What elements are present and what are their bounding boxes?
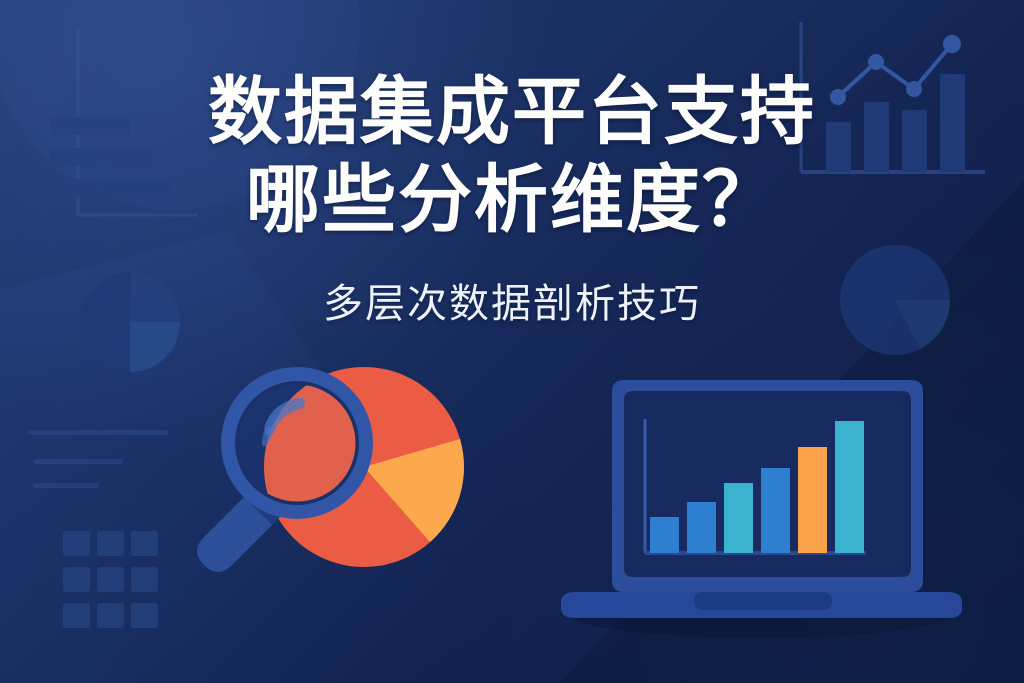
deco-text-line-2 — [33, 459, 123, 464]
magnifier-illustration — [197, 367, 464, 572]
decoration-grid-squares — [63, 531, 158, 628]
deco-text-line-3 — [33, 483, 99, 488]
magnifier-ring — [228, 374, 366, 512]
magnifier-lens — [235, 381, 359, 505]
poster-canvas: 数据集成平台支持 哪些分析维度？ 多层次数据剖析技巧 — [0, 0, 1024, 683]
pie-highlight-slice — [364, 439, 464, 542]
laptop-base — [561, 592, 962, 618]
laptop-screen-shell — [612, 380, 923, 592]
laptop-screen-bezel — [624, 391, 911, 577]
laptop-bar-4 — [761, 468, 790, 553]
background-wedge-bottom-right — [560, 180, 1024, 683]
laptop-bar-5 — [798, 447, 827, 553]
laptop-screen-display — [632, 399, 903, 568]
headline-line-1: 数据集成平台支持 — [0, 68, 1024, 156]
magnifier-handle — [197, 486, 283, 572]
laptop-illustration — [561, 380, 962, 638]
subtitle: 多层次数据剖析技巧 — [0, 278, 1024, 330]
pie-base-slice — [264, 367, 464, 567]
headline-block: 数据集成平台支持 哪些分析维度？ — [0, 68, 1024, 244]
magnifier-glass-shine-small — [262, 426, 273, 446]
decoration-text-lines-bottom-left — [28, 430, 168, 488]
foreground-pie-chart — [264, 367, 464, 567]
laptop-bar-2 — [687, 502, 716, 553]
magnifier-glass-shine — [264, 398, 305, 436]
magnifier-handle-shadow — [244, 486, 283, 525]
laptop-bar-3 — [724, 483, 753, 553]
headline-line-2: 哪些分析维度？ — [0, 156, 1024, 244]
laptop-shadow — [565, 586, 955, 638]
deco-text-line-1 — [28, 430, 168, 435]
magnifier-lens-inner-rim — [235, 381, 359, 505]
laptop-bar-6 — [835, 421, 864, 553]
deco-trend-dot — [943, 35, 961, 53]
laptop-bar-1 — [650, 517, 679, 553]
laptop-base-notch — [694, 592, 832, 610]
